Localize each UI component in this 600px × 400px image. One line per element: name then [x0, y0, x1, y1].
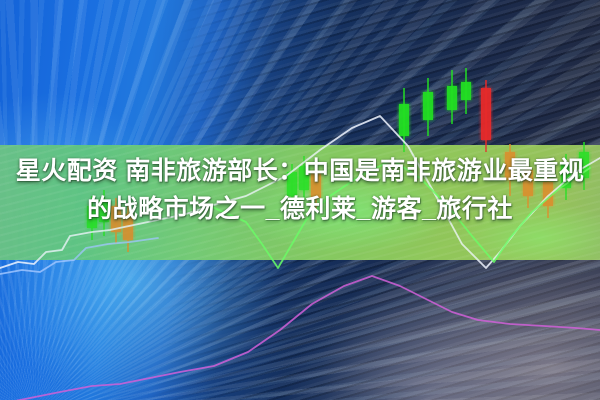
banner-image: 星火配资 南非旅游部长：中国是南非旅游业最重视 的战略市场之一_德利莱_游客_旅… [0, 0, 600, 400]
headline-text: 星火配资 南非旅游部长：中国是南非旅游业最重视 的战略市场之一_德利莱_游客_旅… [0, 152, 600, 228]
headline-line-2: 的战略市场之一_德利莱_游客_旅行社 [0, 190, 600, 228]
headline-line-1: 星火配资 南非旅游部长：中国是南非旅游业最重视 [0, 152, 600, 190]
